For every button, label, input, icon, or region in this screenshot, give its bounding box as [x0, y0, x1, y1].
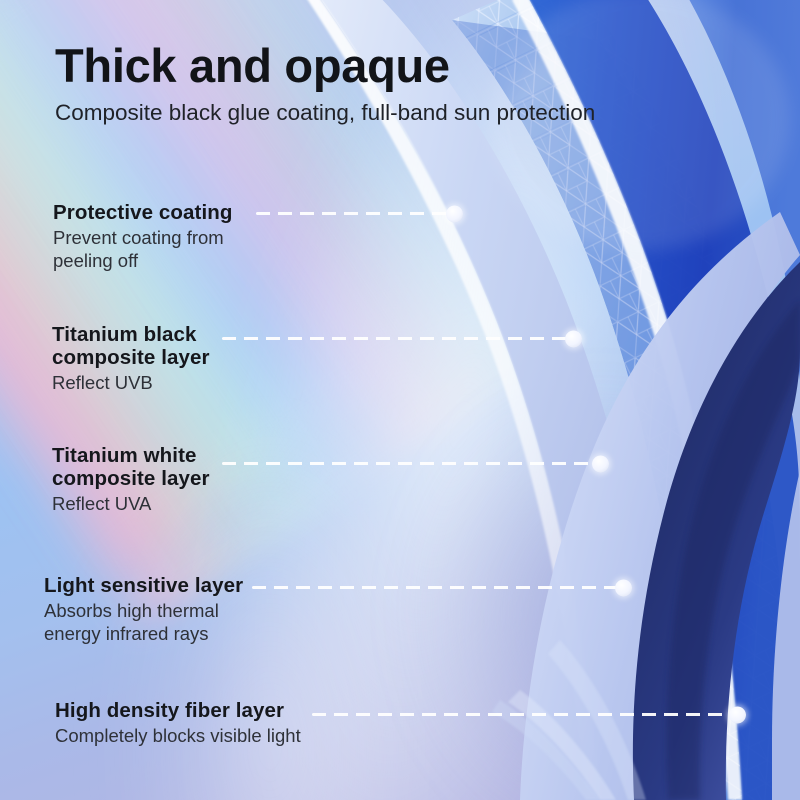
callout-title: Protective coating	[53, 201, 233, 224]
callout-title: High density fiber layer	[55, 699, 301, 722]
leader-dashes	[222, 462, 596, 465]
leader-dashes	[312, 713, 733, 716]
leader-dashes	[256, 212, 450, 215]
leader-endpoint-dot	[565, 330, 582, 347]
leader-endpoint-dot	[615, 579, 632, 596]
callout-title: Titanium white composite layer	[52, 444, 210, 490]
callout-description: Reflect UVA	[52, 492, 210, 515]
page-title: Thick and opaque	[55, 38, 595, 94]
header-block: Thick and opaque Composite black glue co…	[55, 38, 595, 127]
callout-titanium-black-composite-layer: Titanium black composite layerReflect UV…	[52, 323, 210, 394]
callout-high-density-fiber-layer: High density fiber layerCompletely block…	[55, 699, 301, 747]
leader-line-titanium-black-composite-layer	[222, 337, 580, 340]
leader-endpoint-dot	[446, 205, 463, 222]
callout-titanium-white-composite-layer: Titanium white composite layerReflect UV…	[52, 444, 210, 515]
infographic-canvas: Thick and opaque Composite black glue co…	[0, 0, 800, 800]
callout-title: Titanium black composite layer	[52, 323, 210, 369]
leader-dashes	[252, 586, 619, 589]
leader-line-high-density-fiber-layer	[312, 713, 744, 716]
leader-line-light-sensitive-layer	[252, 586, 630, 589]
callout-description: Prevent coating from peeling off	[53, 226, 233, 272]
callout-description: Absorbs high thermal energy infrared ray…	[44, 599, 243, 645]
leader-line-protective-coating	[256, 212, 461, 215]
leader-line-titanium-white-composite-layer	[222, 462, 607, 465]
callout-description: Reflect UVB	[52, 371, 210, 394]
leader-endpoint-dot	[729, 706, 746, 723]
callout-description: Completely blocks visible light	[55, 724, 301, 747]
callout-protective-coating: Protective coatingPrevent coating from p…	[53, 201, 233, 272]
leader-endpoint-dot	[592, 455, 609, 472]
leader-dashes	[222, 337, 569, 340]
callout-title: Light sensitive layer	[44, 574, 243, 597]
callout-light-sensitive-layer: Light sensitive layerAbsorbs high therma…	[44, 574, 243, 645]
page-subtitle: Composite black glue coating, full-band …	[55, 99, 595, 127]
